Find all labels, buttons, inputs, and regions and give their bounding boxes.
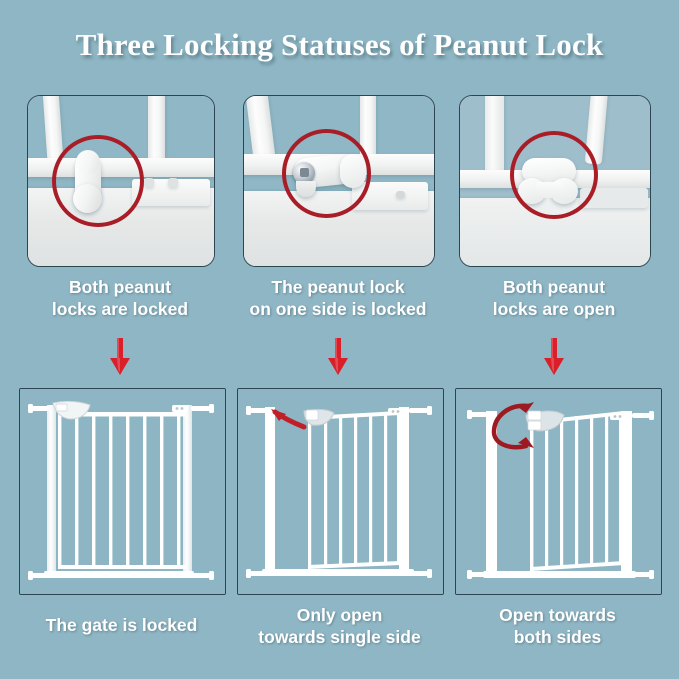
photo-peanut-lock-vertical-locked (28, 96, 214, 266)
photo-peanut-lock-one-side-locked (244, 96, 434, 266)
down-arrow-svg (325, 338, 351, 376)
down-arrow-icon-1 (107, 338, 133, 376)
gate-post-left (485, 95, 504, 176)
infographic-root: Three Locking Statuses of Peanut Lock (0, 0, 679, 679)
gate-svg (456, 389, 661, 594)
caption-line-2: both sides (450, 626, 665, 648)
panel-gate-locked (19, 388, 226, 595)
highlight-circle-icon (510, 131, 598, 219)
gate-svg (20, 389, 225, 594)
gate-svg (238, 389, 443, 594)
caption-line-2: towards single side (232, 626, 447, 648)
mount-block-notch (144, 178, 154, 187)
down-arrow-icon-3 (541, 338, 567, 376)
page-title: Three Locking Statuses of Peanut Lock (0, 27, 679, 63)
caption-gate-locked: The gate is locked (14, 614, 229, 636)
illustration-baby-gate-open-both-sides (456, 389, 661, 594)
caption-locks-locked: Both peanut locks are locked (27, 276, 213, 320)
caption-line-1: Open towards (450, 604, 665, 626)
panel-locks-open (459, 95, 651, 267)
panel-gate-single-side (237, 388, 444, 595)
down-arrow-icon-2 (325, 338, 351, 376)
panel-locks-locked (27, 95, 215, 267)
mount-block-notch (396, 191, 405, 198)
caption-line-2: on one side is locked (238, 298, 438, 320)
caption-one-side-locked: The peanut lock on one side is locked (238, 276, 438, 320)
caption-line-1: The peanut lock (238, 276, 438, 298)
down-arrow-svg (541, 338, 567, 376)
highlight-circle-icon (52, 135, 144, 227)
caption-line-1: Both peanut (459, 276, 649, 298)
caption-line-1: The gate is locked (14, 614, 229, 636)
illustration-baby-gate-closed (20, 389, 225, 594)
photo-peanut-lock-open (460, 96, 650, 266)
highlight-circle-icon (282, 129, 371, 218)
caption-line-1: Both peanut (27, 276, 213, 298)
caption-gate-single-side: Only open towards single side (232, 604, 447, 648)
down-arrow-svg (107, 338, 133, 376)
swing-arrow-single-icon (271, 409, 304, 427)
caption-gate-both-sides: Open towards both sides (450, 604, 665, 648)
caption-line-2: locks are open (459, 298, 649, 320)
caption-line-2: locks are locked (27, 298, 213, 320)
panel-gate-both-sides (455, 388, 662, 595)
panel-one-side-locked (243, 95, 435, 267)
illustration-baby-gate-open-one-side (238, 389, 443, 594)
caption-locks-open: Both peanut locks are open (459, 276, 649, 320)
mount-block-notch-2 (168, 178, 178, 187)
caption-line-1: Only open (232, 604, 447, 626)
